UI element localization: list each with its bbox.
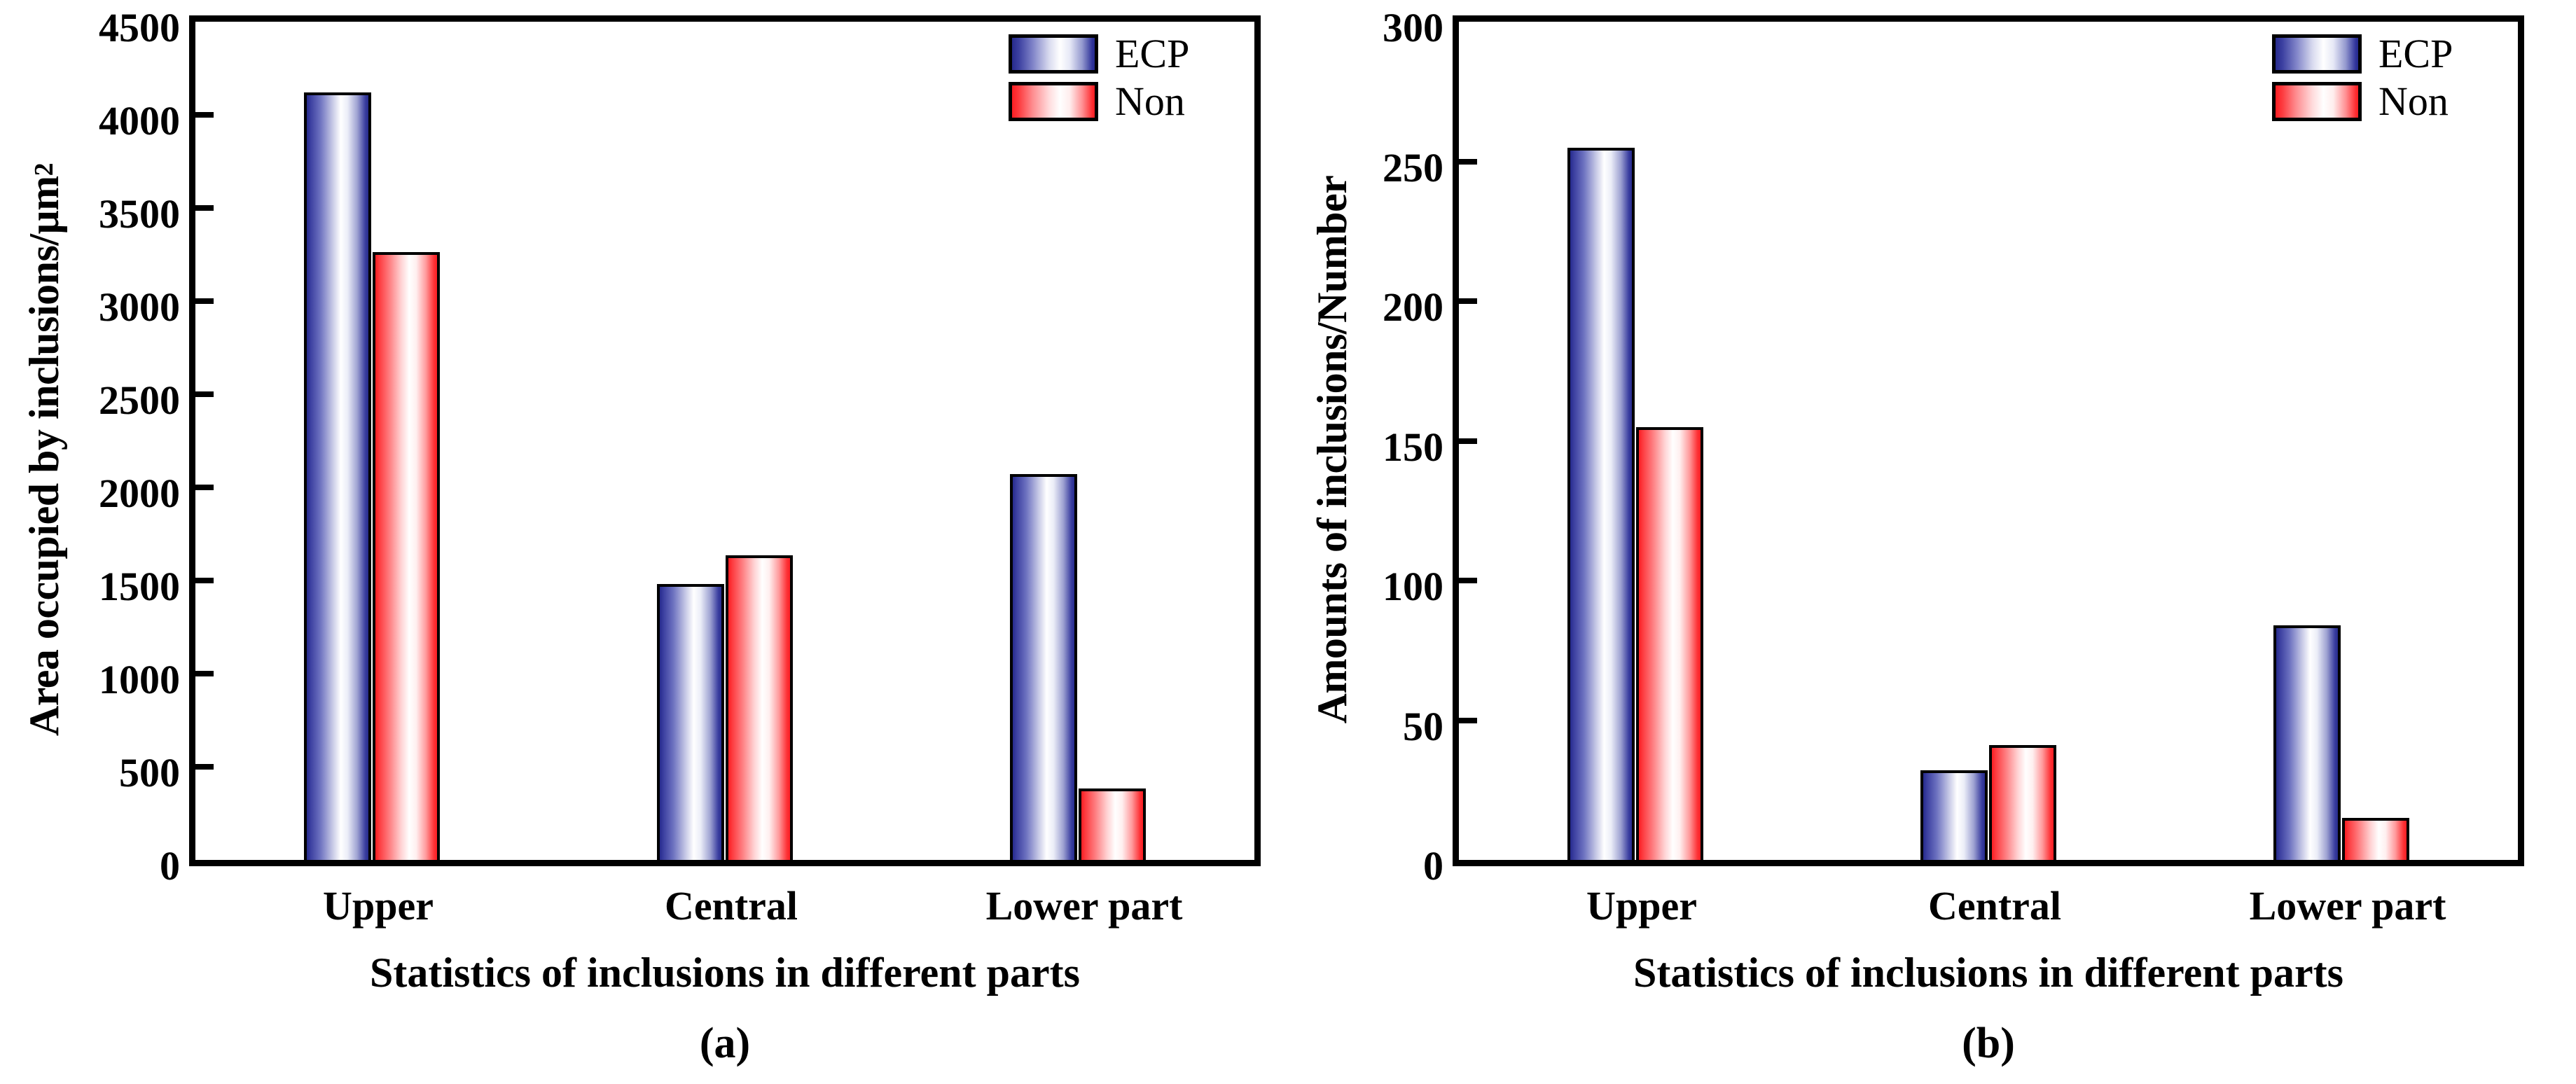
y-axis-title-a-text: Area occupied by inclusions/μm — [20, 176, 69, 736]
panel-label-b: (b) — [1453, 1019, 2524, 1069]
y-axis-tick-label: 500 — [119, 753, 180, 793]
legend-item-non[interactable]: Non — [1009, 81, 1189, 122]
y-axis-tick — [195, 112, 214, 118]
legend-b: ECPNon — [2272, 34, 2453, 122]
legend-a: ECPNon — [1009, 34, 1189, 122]
y-axis-tick — [195, 578, 214, 583]
bar-non-lower-part[interactable] — [2342, 818, 2409, 860]
panel-label-a: (a) — [189, 1019, 1261, 1069]
legend-label-non: Non — [2378, 81, 2449, 122]
y-axis-tick-label: 1500 — [99, 567, 180, 607]
legend-swatch-non — [2272, 82, 2362, 121]
y-axis-tick — [195, 485, 214, 490]
plot-area-a: 050010001500200025003000350040004500Uppe… — [189, 15, 1261, 866]
legend-item-ecp[interactable]: ECP — [1009, 34, 1189, 74]
y-axis-tick — [195, 764, 214, 770]
legend-swatch-non — [1009, 82, 1098, 121]
legend-label-non: Non — [1115, 81, 1185, 122]
y-axis-tick-label: 0 — [1423, 846, 1443, 887]
x-axis-tick-label: Lower part — [2250, 882, 2446, 929]
bar-non-central[interactable] — [1989, 745, 2056, 860]
bar-ecp-lower-part[interactable] — [1010, 474, 1077, 860]
legend-item-non[interactable]: Non — [2272, 81, 2453, 122]
panel-b: Amounts of inclusions/Number 05010015020… — [1288, 0, 2576, 1084]
bar-ecp-central[interactable] — [1920, 770, 1988, 860]
y-axis-tick-label: 250 — [1383, 148, 1443, 188]
y-axis-tick-label: 200 — [1383, 287, 1443, 328]
y-axis-tick-label: 4500 — [99, 8, 180, 48]
y-axis-tick — [1459, 578, 1477, 583]
plot-area-b: 050100150200250300UpperCentralLower part — [1453, 15, 2524, 866]
y-axis-tick-label: 300 — [1383, 8, 1443, 48]
figure-container: Area occupied by inclusions/μm2 05001000… — [0, 0, 2576, 1084]
y-axis-tick-label: 4000 — [99, 101, 180, 141]
x-axis-tick-label: Upper — [1586, 882, 1697, 929]
y-axis-tick-label: 2000 — [99, 473, 180, 514]
y-axis-tick — [195, 671, 214, 676]
bar-non-upper[interactable] — [1636, 427, 1703, 860]
bar-ecp-lower-part[interactable] — [2273, 625, 2341, 860]
bar-non-lower-part[interactable] — [1079, 788, 1146, 860]
y-axis-tick-label: 150 — [1383, 427, 1443, 468]
x-axis-tick-label: Central — [665, 882, 798, 929]
y-axis-tick — [195, 298, 214, 304]
x-axis-tick-label: Upper — [323, 882, 434, 929]
x-axis-tick-label: Lower part — [986, 882, 1183, 929]
panel-a: Area occupied by inclusions/μm2 05001000… — [0, 0, 1288, 1084]
y-axis-title-a: Area occupied by inclusions/μm2 — [17, 15, 71, 884]
legend-label-ecp: ECP — [2378, 34, 2453, 74]
y-axis-title-b-text: Amounts of inclusions/Number — [1308, 176, 1357, 724]
y-axis-tick — [1459, 159, 1477, 165]
legend-label-ecp: ECP — [1115, 34, 1189, 74]
y-axis-title-b: Amounts of inclusions/Number — [1305, 15, 1359, 884]
y-axis-tick-label: 0 — [160, 846, 180, 887]
x-axis-tick-label: Central — [1928, 882, 2061, 929]
y-axis-tick-label: 2500 — [99, 380, 180, 421]
plot-inner-b — [1459, 22, 2518, 860]
y-axis-tick — [1459, 298, 1477, 304]
y-axis-tick — [195, 205, 214, 211]
y-axis-tick — [1459, 718, 1477, 723]
bar-ecp-central[interactable] — [657, 584, 724, 860]
y-axis-title-a-superscript: 2 — [29, 163, 60, 176]
y-axis-tick-label: 50 — [1403, 707, 1443, 747]
x-axis-title-b: Statistics of inclusions in different pa… — [1453, 949, 2524, 997]
y-axis-tick — [195, 391, 214, 397]
legend-swatch-ecp — [1009, 34, 1098, 74]
bar-ecp-upper[interactable] — [1567, 148, 1635, 860]
legend-swatch-ecp — [2272, 34, 2362, 74]
bar-ecp-upper[interactable] — [304, 92, 371, 860]
legend-item-ecp[interactable]: ECP — [2272, 34, 2453, 74]
bar-non-upper[interactable] — [373, 252, 440, 860]
y-axis-tick — [1459, 438, 1477, 444]
y-axis-tick-label: 3000 — [99, 287, 180, 328]
plot-inner-a — [195, 22, 1254, 860]
x-axis-title-a: Statistics of inclusions in different pa… — [189, 949, 1261, 997]
bar-non-central[interactable] — [726, 555, 793, 860]
y-axis-tick-label: 3500 — [99, 194, 180, 235]
y-axis-tick-label: 100 — [1383, 567, 1443, 607]
y-axis-tick-label: 1000 — [99, 660, 180, 700]
